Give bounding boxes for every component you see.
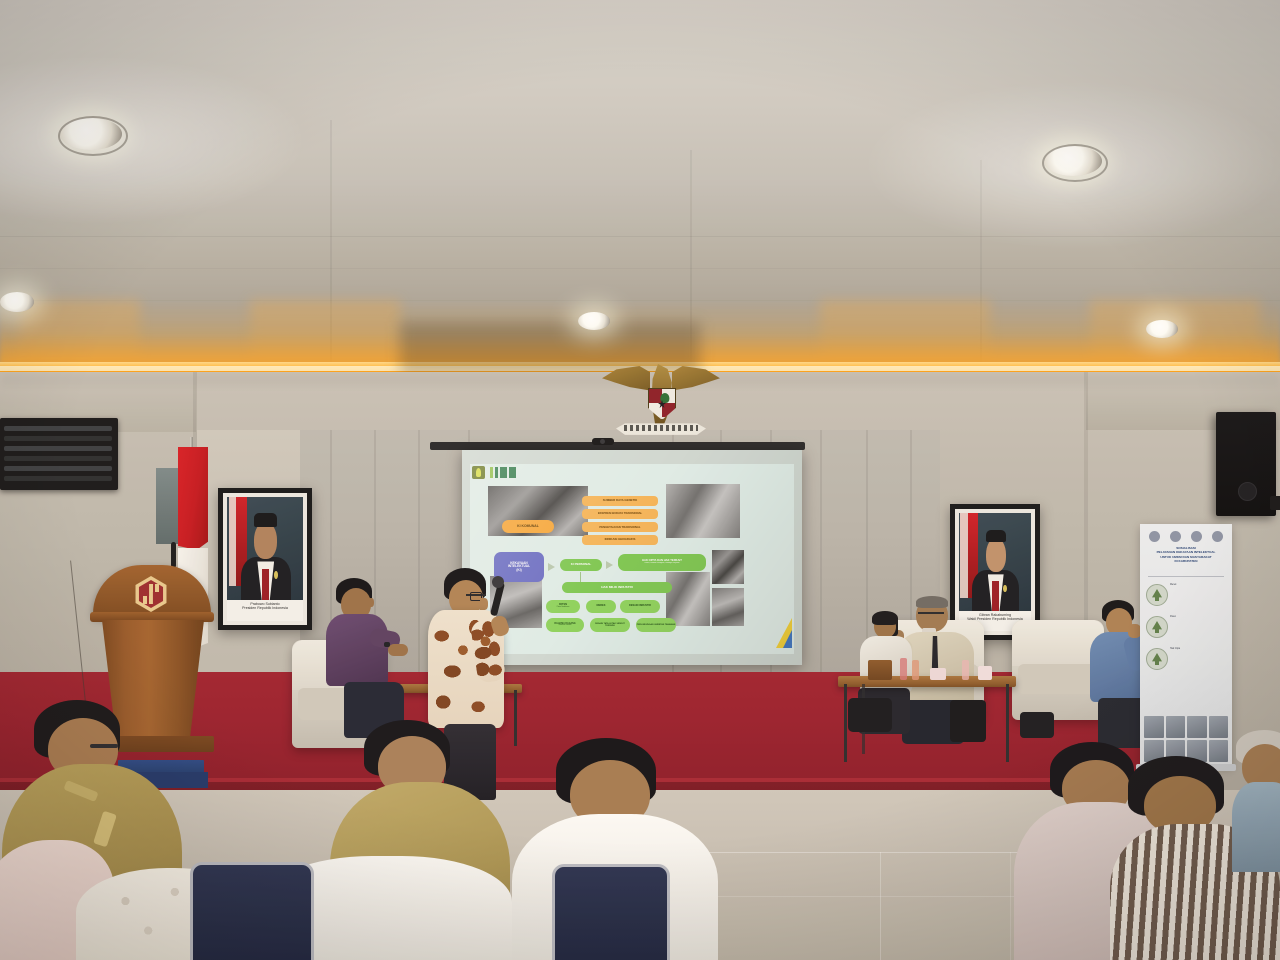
slide-item-pengetahuan-tradisional: PENGETAHUAN TRADISIONAL bbox=[582, 522, 658, 532]
banner-logo-icon bbox=[1191, 531, 1202, 542]
slide-box-hak-cipta: HAK CIPTA DAN HAK TERKAIT Pelaku, Produs… bbox=[618, 554, 706, 571]
slide-item-sumber-daya-genetik: SUMBER DAYA GENETIK bbox=[582, 496, 658, 506]
banner-logo-icon bbox=[1170, 531, 1181, 542]
bag bbox=[950, 700, 986, 742]
banner-icon-hak-cipta bbox=[1146, 648, 1168, 670]
beverage-bottle bbox=[912, 660, 919, 680]
camera-icon bbox=[592, 438, 614, 445]
tissue-box bbox=[868, 660, 892, 680]
banner-icon-merek bbox=[1146, 584, 1168, 606]
beverage-bottle bbox=[962, 660, 969, 680]
slide-item-indikasi-geografis: INDIKASI GEOGRAFIS bbox=[582, 535, 658, 545]
snack-plate bbox=[930, 668, 946, 680]
shoe bbox=[1020, 712, 1054, 738]
banner-text-hak-cipta: Hak Cipta bbox=[1170, 648, 1226, 651]
slide-box-hak-milik-industri: HAK MILIK INDUSTRI bbox=[562, 582, 672, 593]
slide-item-pvt: PERLINDUNGAN VARIETAS TANAMAN bbox=[636, 618, 676, 632]
paten-sub: Paten Sederhana bbox=[557, 607, 569, 609]
banner-text-merek: Merek bbox=[1170, 584, 1226, 587]
slide-item-ekspresi-budaya-tradisional: EKSPRESI BUDAYA TRADISIONAL bbox=[582, 509, 658, 519]
banner-logo-icon bbox=[1212, 531, 1223, 542]
photo-scene: Prabowo Subianto Presiden Republik Indon… bbox=[0, 0, 1280, 960]
podium-microphone-icon bbox=[171, 542, 176, 568]
rollup-banner[interactable]: SOSIALISASI PELAYANAN KEKAYAAN INTELEKTU… bbox=[1140, 524, 1232, 766]
banner-icon-paten bbox=[1146, 616, 1168, 638]
banner-title-line4: DI KABUPATEN bbox=[1145, 559, 1227, 563]
portrait-frame-president: Prabowo Subianto Presiden Republik Indon… bbox=[218, 488, 312, 630]
banner-logo-icon bbox=[1149, 531, 1160, 542]
banner-text-paten: Paten bbox=[1170, 616, 1226, 619]
president-title: Presiden Republik Indonesia bbox=[227, 606, 303, 610]
banner-logo-row bbox=[1144, 528, 1228, 544]
wall-speaker-icon bbox=[1216, 412, 1276, 516]
air-conditioner-icon bbox=[0, 418, 118, 490]
bag bbox=[848, 698, 892, 732]
slide-item-paten: PATEN Paten Sederhana bbox=[546, 600, 580, 613]
audience-member bbox=[1232, 730, 1280, 870]
beverage-bottle bbox=[900, 658, 907, 680]
cup bbox=[978, 666, 992, 680]
slide-item-rahasia-dagang: RAHASIA DAGANG Informasi Rahasia bbox=[546, 618, 584, 632]
downlight-rim bbox=[58, 116, 128, 156]
institution-emblem-icon bbox=[133, 576, 169, 612]
portrait-caption-president: Prabowo Subianto Presiden Republik Indon… bbox=[227, 600, 303, 621]
slide-box-ki-komunal: KI KOMUNAL bbox=[502, 520, 554, 533]
portrait-president: Prabowo Subianto Presiden Republik Indon… bbox=[227, 497, 303, 621]
slide-item-desain-industri: DESAIN INDUSTRI bbox=[620, 600, 660, 613]
djki-wordmark bbox=[490, 467, 516, 478]
rahasia-sub: Informasi Rahasia bbox=[559, 625, 572, 627]
slide-box-ki-personal: KI PERSONAL bbox=[560, 559, 602, 571]
slide-item-merek: MEREK bbox=[586, 600, 616, 613]
ceiling-downlight bbox=[1146, 320, 1178, 338]
slide-item-dtlst: DESAIN TATA LETAK SIRKUIT TERPADU bbox=[590, 618, 630, 632]
ceiling-downlight bbox=[0, 292, 34, 312]
djki-logo-icon bbox=[472, 466, 485, 479]
chair bbox=[552, 864, 670, 960]
indonesian-flag-red bbox=[178, 447, 208, 550]
downlight-rim bbox=[1042, 144, 1108, 182]
hak-cipta-sub: Pelaku, Produser Fonogram, Lembaga Penyi… bbox=[644, 563, 679, 565]
microphone-head bbox=[492, 576, 504, 588]
screen-housing bbox=[430, 442, 805, 450]
banner-title: SOSIALISASI PELAYANAN KEKAYAAN INTELEKTU… bbox=[1145, 546, 1227, 564]
ceiling-downlight bbox=[578, 312, 610, 330]
chair bbox=[190, 862, 314, 960]
